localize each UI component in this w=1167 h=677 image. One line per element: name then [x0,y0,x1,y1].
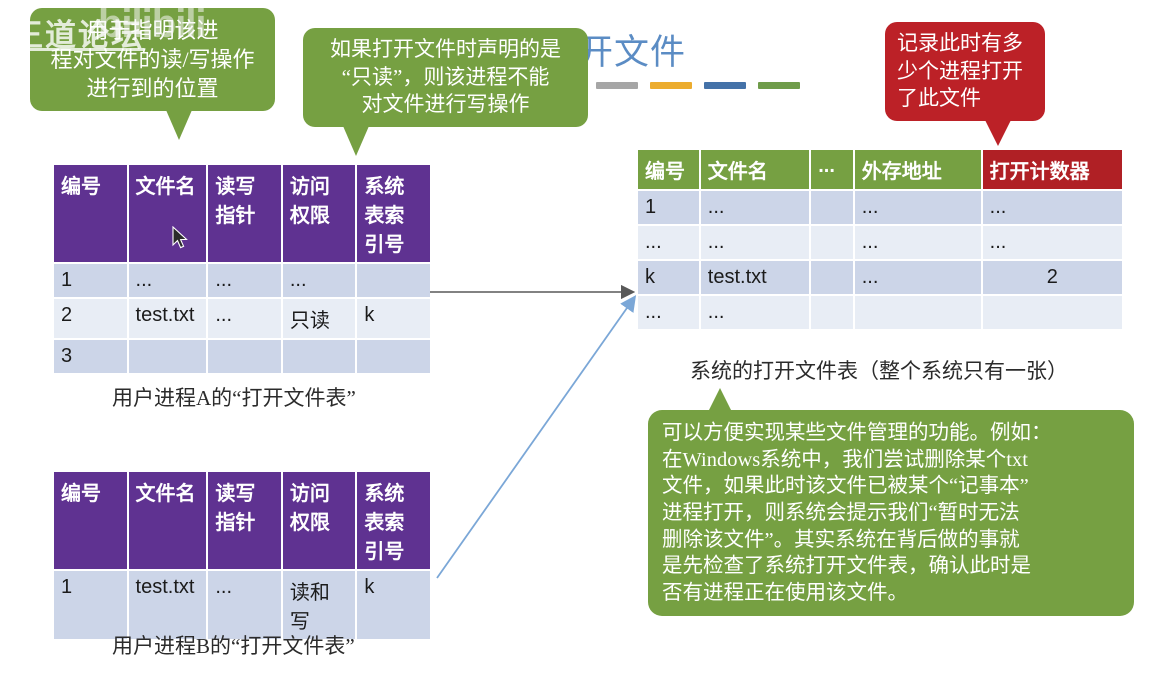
dash-blue-icon [704,82,746,89]
callout-line: 在Windows系统中，我们尝试删除某个txt [662,447,1120,474]
cell-sys-2-0: k [638,261,699,294]
cell-a-2-0: 3 [54,340,127,373]
cell-a-2-2 [208,340,281,373]
column-header-filename: 文件名 [701,150,809,189]
cell-a-1-4: k [357,299,430,338]
column-header-id: 编号 [638,150,699,189]
cell-sys-0-0: 1 [638,191,699,224]
slide-canvas: 开文件 编号 文件名 读写指针 访问权限 系统表索引号 [0,0,1167,677]
column-header-open-counter: 打开计数器 [983,150,1122,189]
watermark-bilibili-logo: bilibili [98,2,206,47]
cell-sys-1-4: ... [983,226,1122,259]
table-row: 1 ... ... ... [638,191,1122,224]
column-header-filename: 文件名 [129,472,207,569]
callout-line: 记录此时有多 [897,30,1033,58]
callout-tail-icon [708,388,732,412]
callout-line: 如果打开文件时声明的是 [315,36,576,64]
dash-gray-icon [596,82,638,89]
callout-line: 文件，如果此时该文件已被某个“记事本” [662,473,1120,500]
cell-sys-3-4 [983,296,1122,329]
cell-sys-1-2 [811,226,853,259]
table-row: k test.txt ... 2 [638,261,1122,294]
cell-sys-2-3: ... [855,261,981,294]
caption-process-a: 用户进程A的“打开文件表” [112,382,356,412]
column-header-rw-pointer: 读写指针 [208,472,281,569]
cell-sys-3-0: ... [638,296,699,329]
callout-tail-icon [985,120,1011,146]
callout-line: 删除该文件”。其实系统在背后做的事就 [662,527,1120,554]
column-header-filename: 文件名 [129,165,207,262]
column-header-rw-pointer: 读写指针 [208,165,281,262]
dash-green-icon [758,82,800,89]
cell-sys-2-2 [811,261,853,294]
cell-a-1-2: ... [208,299,281,338]
cell-b-0-0: 1 [54,571,127,639]
callout-access-permission: 如果打开文件时声明的是 “只读”，则该进程不能 对文件进行写操作 [303,28,588,127]
callout-line: 进程打开，则系统会提示我们“暂时无法 [662,500,1120,527]
column-header-external-address: 外存地址 [855,150,981,189]
cell-sys-1-0: ... [638,226,699,259]
cell-a-1-1: test.txt [129,299,207,338]
callout-line: 少个进程打开 [897,58,1033,86]
cell-b-0-3: 读和写 [283,571,356,639]
cell-sys-0-2 [811,191,853,224]
mouse-cursor-icon [172,226,190,252]
cell-b-0-4: k [357,571,430,639]
cell-sys-0-3: ... [855,191,981,224]
cell-sys-1-1: ... [701,226,809,259]
callout-line: 进行到的位置 [42,74,263,103]
cell-b-0-2: ... [208,571,281,639]
column-header-access-permission: 访问权限 [283,165,356,262]
callout-open-counter: 记录此时有多 少个进程打开 了此文件 [885,22,1045,121]
table-row: ... ... ... ... [638,226,1122,259]
cell-a-0-2: ... [208,264,281,297]
callout-line: “只读”，则该进程不能 [315,64,576,92]
dash-orange-icon [650,82,692,89]
cell-sys-2-1: test.txt [701,261,809,294]
cell-b-0-1: test.txt [129,571,207,639]
callout-line: 是先检查了系统打开文件表，确认此时是 [662,553,1120,580]
callout-line: 可以方便实现某些文件管理的功能。例如： [662,420,1120,447]
table-header-row: 编号 文件名 读写指针 访问权限 系统表索引号 [54,165,430,262]
column-header-system-table-index: 系统表索引号 [357,165,430,262]
table-row: ... ... [638,296,1122,329]
callout-file-management-explanation: 可以方便实现某些文件管理的功能。例如： 在Windows系统中，我们尝试删除某个… [648,410,1134,616]
cell-sys-3-3 [855,296,981,329]
connector-b-to-system [437,298,634,578]
column-header-id: 编号 [54,165,127,262]
cell-a-0-4 [357,264,430,297]
callout-tail-icon [343,126,369,156]
table-header-row: 编号 文件名 ... 外存地址 打开计数器 [638,150,1122,189]
cell-sys-1-3: ... [855,226,981,259]
table-system-open-file-table: 编号 文件名 ... 外存地址 打开计数器 1 ... ... ... ... … [636,148,1124,331]
cell-sys-2-4: 2 [983,261,1122,294]
table-row: 2 test.txt ... 只读 k [54,299,430,338]
caption-process-b: 用户进程B的“打开文件表” [112,630,355,660]
cell-sys-3-1: ... [701,296,809,329]
cell-a-1-3: 只读 [283,299,356,338]
table-header-row: 编号 文件名 读写指针 访问权限 系统表索引号 [54,472,430,569]
table-row: 1 test.txt ... 读和写 k [54,571,430,639]
cell-sys-0-1: ... [701,191,809,224]
column-header-access-permission: 访问权限 [283,472,356,569]
table-process-a-open-file-table: 编号 文件名 读写指针 访问权限 系统表索引号 1 ... ... ... 2 … [52,163,432,375]
cell-a-0-3: ... [283,264,356,297]
cell-a-2-1 [129,340,207,373]
callout-line: 否有进程正在使用该文件。 [662,580,1120,607]
cell-a-1-0: 2 [54,299,127,338]
title-underline-dashes [596,82,800,89]
caption-system-table: 系统的打开文件表（整个系统只有一张） [690,355,1068,385]
cell-a-0-1: ... [129,264,207,297]
column-header-id: 编号 [54,472,127,569]
cell-a-0-0: 1 [54,264,127,297]
cell-sys-3-2 [811,296,853,329]
cell-sys-0-4: ... [983,191,1122,224]
column-header-system-table-index: 系统表索引号 [357,472,430,569]
cell-a-2-3 [283,340,356,373]
table-process-b-open-file-table: 编号 文件名 读写指针 访问权限 系统表索引号 1 test.txt ... 读… [52,470,432,641]
callout-line: 了此文件 [897,85,1033,113]
callout-line: 对文件进行写操作 [315,91,576,119]
page-title: 开文件 [578,24,686,75]
callout-tail-icon [166,110,192,140]
table-row: 1 ... ... ... [54,264,430,297]
cell-a-2-4 [357,340,430,373]
table-row: 3 [54,340,430,373]
column-header-ellipsis: ... [811,150,853,189]
